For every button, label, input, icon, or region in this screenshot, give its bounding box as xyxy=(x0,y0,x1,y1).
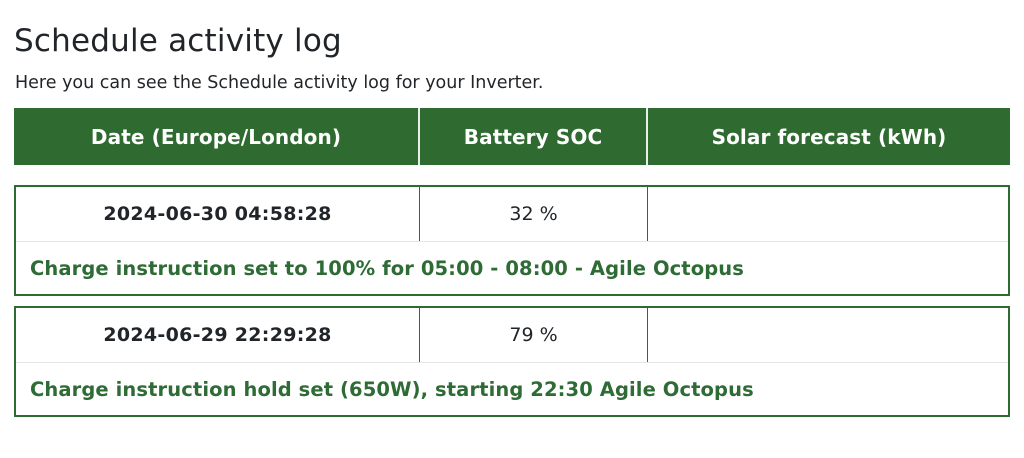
cell-battery-soc: 79 % xyxy=(420,308,648,362)
column-header-date: Date (Europe/London) xyxy=(14,108,420,165)
schedule-activity-log-page: Schedule activity log Here you can see t… xyxy=(0,0,1024,458)
cell-date: 2024-06-29 22:29:28 xyxy=(16,308,420,362)
log-entry-note: Charge instruction set to 100% for 05:00… xyxy=(30,257,744,280)
column-header-solar-forecast: Solar forecast (kWh) xyxy=(648,108,1010,165)
schedule-activity-log-table: Date (Europe/London) Battery SOC Solar f… xyxy=(14,108,1010,417)
cell-solar-forecast xyxy=(648,187,1008,241)
log-entry-group: 2024-06-30 04:58:28 32 % Charge instruct… xyxy=(14,185,1010,296)
cell-solar-forecast xyxy=(648,308,1008,362)
log-entry-group: 2024-06-29 22:29:28 79 % Charge instruct… xyxy=(14,306,1010,417)
table-header-row: Date (Europe/London) Battery SOC Solar f… xyxy=(14,108,1010,165)
page-subtitle: Here you can see the Schedule activity l… xyxy=(15,70,543,96)
table-row: 2024-06-29 22:29:28 79 % xyxy=(16,308,1008,363)
table-row: 2024-06-30 04:58:28 32 % xyxy=(16,187,1008,242)
log-entry-note: Charge instruction hold set (650W), star… xyxy=(30,378,754,401)
cell-battery-soc: 32 % xyxy=(420,187,648,241)
column-header-battery-soc: Battery SOC xyxy=(420,108,648,165)
page-title: Schedule activity log xyxy=(14,21,342,61)
log-entry-note-row: Charge instruction hold set (650W), star… xyxy=(16,363,1008,415)
cell-date: 2024-06-30 04:58:28 xyxy=(16,187,420,241)
log-entry-note-row: Charge instruction set to 100% for 05:00… xyxy=(16,242,1008,294)
